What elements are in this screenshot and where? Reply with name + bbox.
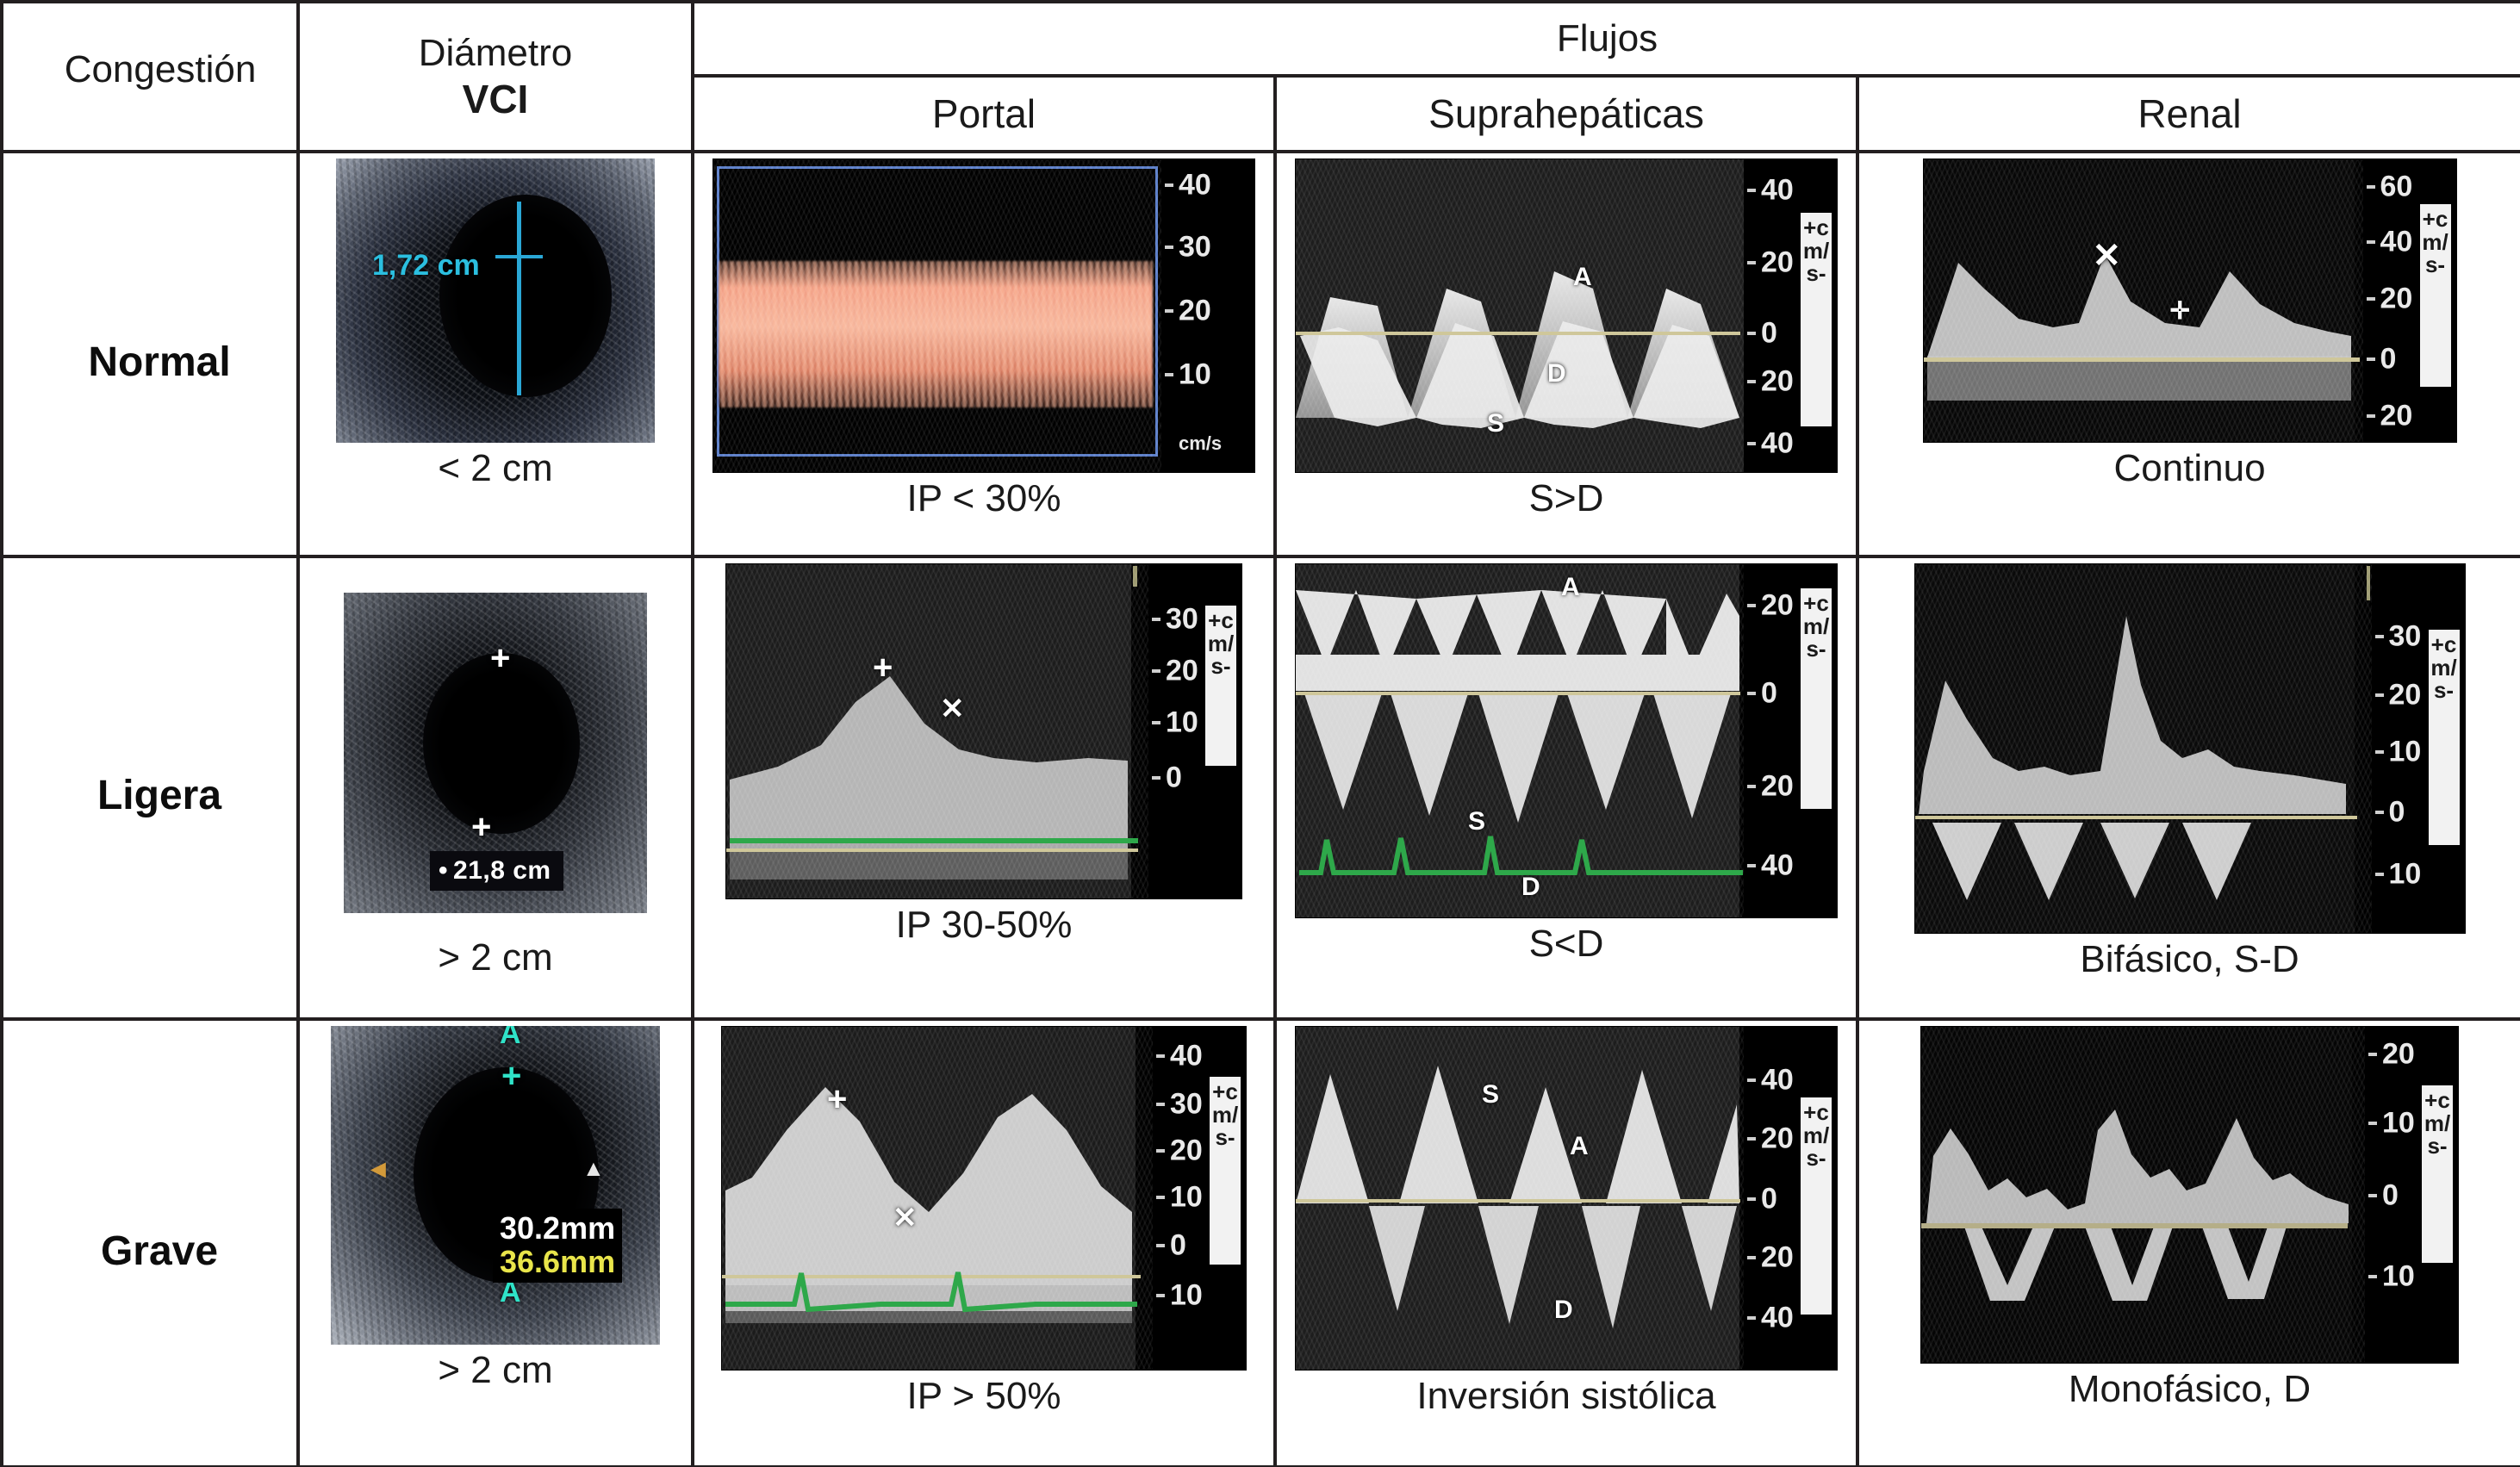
header-congestion: Congestión [2,2,298,152]
wave-marker-a: A [1570,1132,1589,1161]
marker-caret-left-icon: ◄ [365,1155,391,1184]
caption-grave-renal: Monofásico, D [2069,1369,2311,1410]
caliper-plus-bottom-icon: + [471,815,491,839]
wave-marker-d: D [1547,359,1566,389]
zero-baseline [1924,357,2360,362]
cell-grave-vci: A + + A ◄ ▲ 30.2mm 36.6mm > 2 cm [298,1019,693,1467]
caption-grave-vci: > 2 cm [438,1350,552,1391]
cell-normal-suprahepaticas: A D S 40 20 0 20 40 +cm/s- S>D [1275,152,1857,556]
caption-ligera-suprahepaticas: S<D [1529,923,1604,965]
ultrasound-portal-grave: + ✕ 40 30 20 10 0 10 +cm/s- [721,1026,1247,1371]
caliper-crosshair-icon: ✕ [2093,246,2122,266]
unit-label-cms: +cm/s- [2422,1085,2453,1263]
caption-ligera-vci: > 2 cm [438,937,552,979]
cell-normal-renal: ✕ ✛ 60 40 20 0 20 +cm/s- Continuo [1857,152,2520,556]
caption-normal-portal: IP < 30% [907,478,1061,519]
table-header-row-1: Congestión Diámetro VCI Flujos [2,2,2520,76]
header-congestion-label: Congestión [65,48,257,90]
caliper-marker-a-top-icon: A [500,1026,521,1045]
zero-baseline [726,848,1138,852]
caliper-plus-icon: + [827,1089,847,1110]
header-vci-label: VCI [300,76,691,122]
ivc-measure-2: 36.6mm [500,1246,615,1279]
header-suprahepaticas: Suprahepáticas [1275,76,1857,152]
header-diametro-label: Diámetro [300,31,691,76]
row-label-normal-text: Normal [88,339,230,385]
unit-label-cms: +cm/s- [1205,606,1236,766]
row-label-normal: Normal [2,152,298,556]
ivc-measurement-value: 21,8 cm [453,856,551,885]
header-portal-label: Portal [932,91,1036,136]
ivc-measurement-chip: •21,8 cm [430,851,563,891]
cell-grave-renal: 20 10 0 10 +cm/s- Monofásico, D [1857,1019,2520,1467]
zero-baseline [1296,692,1740,695]
ultrasound-ivc-grave: A + + A ◄ ▲ 30.2mm 36.6mm [331,1026,660,1345]
header-flujos: Flujos [693,2,2520,76]
cell-normal-vci: 1,72 cm < 2 cm [298,152,693,556]
zero-baseline [1921,1223,2348,1228]
caliper-crosshair-2-icon: ✛ [2170,304,2190,319]
ultrasound-renal-grave: 20 10 0 10 +cm/s- [1920,1026,2459,1364]
header-diametro-vci: Diámetro VCI [298,2,693,152]
caption-normal-vci: < 2 cm [438,448,552,489]
wave-marker-d: D [1554,1296,1573,1325]
row-label-ligera: Ligera [2,556,298,1019]
row-label-ligera-text: Ligera [97,773,221,818]
ultrasound-renal-ligera: 30 20 10 0 10 +cm/s- [1914,563,2466,934]
unit-label-cms: +cm/s- [2420,204,2451,387]
caliper-line-icon [517,202,521,395]
zero-baseline [1915,816,2357,819]
header-renal: Renal [1857,76,2520,152]
unit-label-cms: +cm/s- [1801,1097,1832,1315]
row-label-grave-text: Grave [101,1228,218,1274]
caption-ligera-renal: Bifásico, S-D [2080,939,2299,980]
ultrasound-suprahepaticas-normal: A D S 40 20 0 20 40 +cm/s- [1295,159,1838,473]
wave-marker-s: S [1468,807,1485,836]
ecg-trace [725,1268,1139,1320]
caption-ligera-portal: IP 30-50% [896,904,1073,946]
cell-ligera-vci: + + •21,8 cm > 2 cm [298,556,693,1019]
wave-marker-s: S [1487,409,1504,438]
header-flujos-label: Flujos [1557,17,1658,59]
cell-ligera-renal: 30 20 10 0 10 +cm/s- Bifásico, S-D [1857,556,2520,1019]
ultrasound-suprahepaticas-grave: S A D 40 20 0 20 40 +cm/s- [1295,1026,1838,1371]
ultrasound-portal-normal: 40 30 20 10 cm/s [712,159,1255,473]
cell-grave-suprahepaticas: S A D 40 20 0 20 40 +cm/s- Inversión sis… [1275,1019,1857,1467]
caliper-cross-icon: ✕ [940,700,965,718]
unit-label-cms: +cm/s- [1801,588,1832,809]
ultrasound-renal-normal: ✕ ✛ 60 40 20 0 20 +cm/s- [1923,159,2457,443]
vexus-table: Congestión Diámetro VCI Flujos Portal Su… [0,0,2520,1467]
cell-ligera-portal: + ✕ 30 20 10 0 +cm/s- IP 30-50% [693,556,1275,1019]
caption-grave-suprahepaticas: Inversión sistólica [1416,1376,1715,1417]
caption-normal-suprahepaticas: S>D [1529,478,1604,519]
marker-caret-right-icon: ▲ [582,1155,605,1182]
ultrasound-portal-ligera: + ✕ 30 20 10 0 +cm/s- [725,563,1242,899]
measure-bullet-icon: • [439,856,448,885]
caliper-plus-icon: + [873,657,893,678]
wave-marker-a: A [1561,573,1580,602]
zero-baseline [1296,1199,1740,1203]
cell-ligera-suprahepaticas: A S D 20 0 20 40 +cm/s- S<D [1275,556,1857,1019]
zero-baseline [1296,332,1740,335]
wave-marker-a: A [1573,263,1592,292]
row-label-grave: Grave [2,1019,298,1467]
caliper-plus-top-icon: + [490,646,510,670]
ultrasound-suprahepaticas-ligera: A S D 20 0 20 40 +cm/s- [1295,563,1838,918]
ivc-measurements-box: 30.2mm 36.6mm [493,1209,622,1283]
ecg-trace [730,838,1138,843]
wave-marker-d: D [1521,873,1540,902]
header-renal-label: Renal [2137,91,2241,136]
cell-grave-portal: + ✕ 40 30 20 10 0 10 +cm/s- IP > 50% [693,1019,1275,1467]
wave-marker-s: S [1482,1080,1499,1110]
header-portal: Portal [693,76,1275,152]
caliper-marker-a-bottom-icon: A [500,1283,521,1303]
portal-normal-scale: 40 30 20 10 cm/s [1161,159,1254,472]
caption-grave-portal: IP > 50% [907,1376,1061,1417]
caption-normal-renal: Continuo [2113,448,2265,489]
table-row-normal: Normal 1,72 cm < 2 cm [2,152,2520,556]
caliper-cross-icon: ✕ [893,1209,918,1227]
caliper-plus-top-icon: + [501,1064,521,1088]
vexus-grading-table-page: Congestión Diámetro VCI Flujos Portal Su… [0,0,2520,1467]
table-row-grave: Grave A + + A ◄ ▲ 30.2mm 36.6mm [2,1019,2520,1467]
header-suprahepaticas-label: Suprahepáticas [1428,91,1704,136]
ivc-measurement-label: 1,72 cm [372,249,480,283]
unit-label-cms: +cm/s- [1210,1077,1241,1265]
ivc-measure-1: 30.2mm [500,1212,615,1246]
unit-label-cms: +cm/s- [2429,630,2460,845]
unit-label-cms: +cm/s- [1801,213,1832,426]
cell-normal-portal: 40 30 20 10 cm/s IP < 30% [693,152,1275,556]
ultrasound-ivc-normal: 1,72 cm [336,159,655,443]
table-row-ligera: Ligera + + •21,8 cm > 2 cm [2,556,2520,1019]
ultrasound-ivc-ligera: + + •21,8 cm [344,593,647,913]
